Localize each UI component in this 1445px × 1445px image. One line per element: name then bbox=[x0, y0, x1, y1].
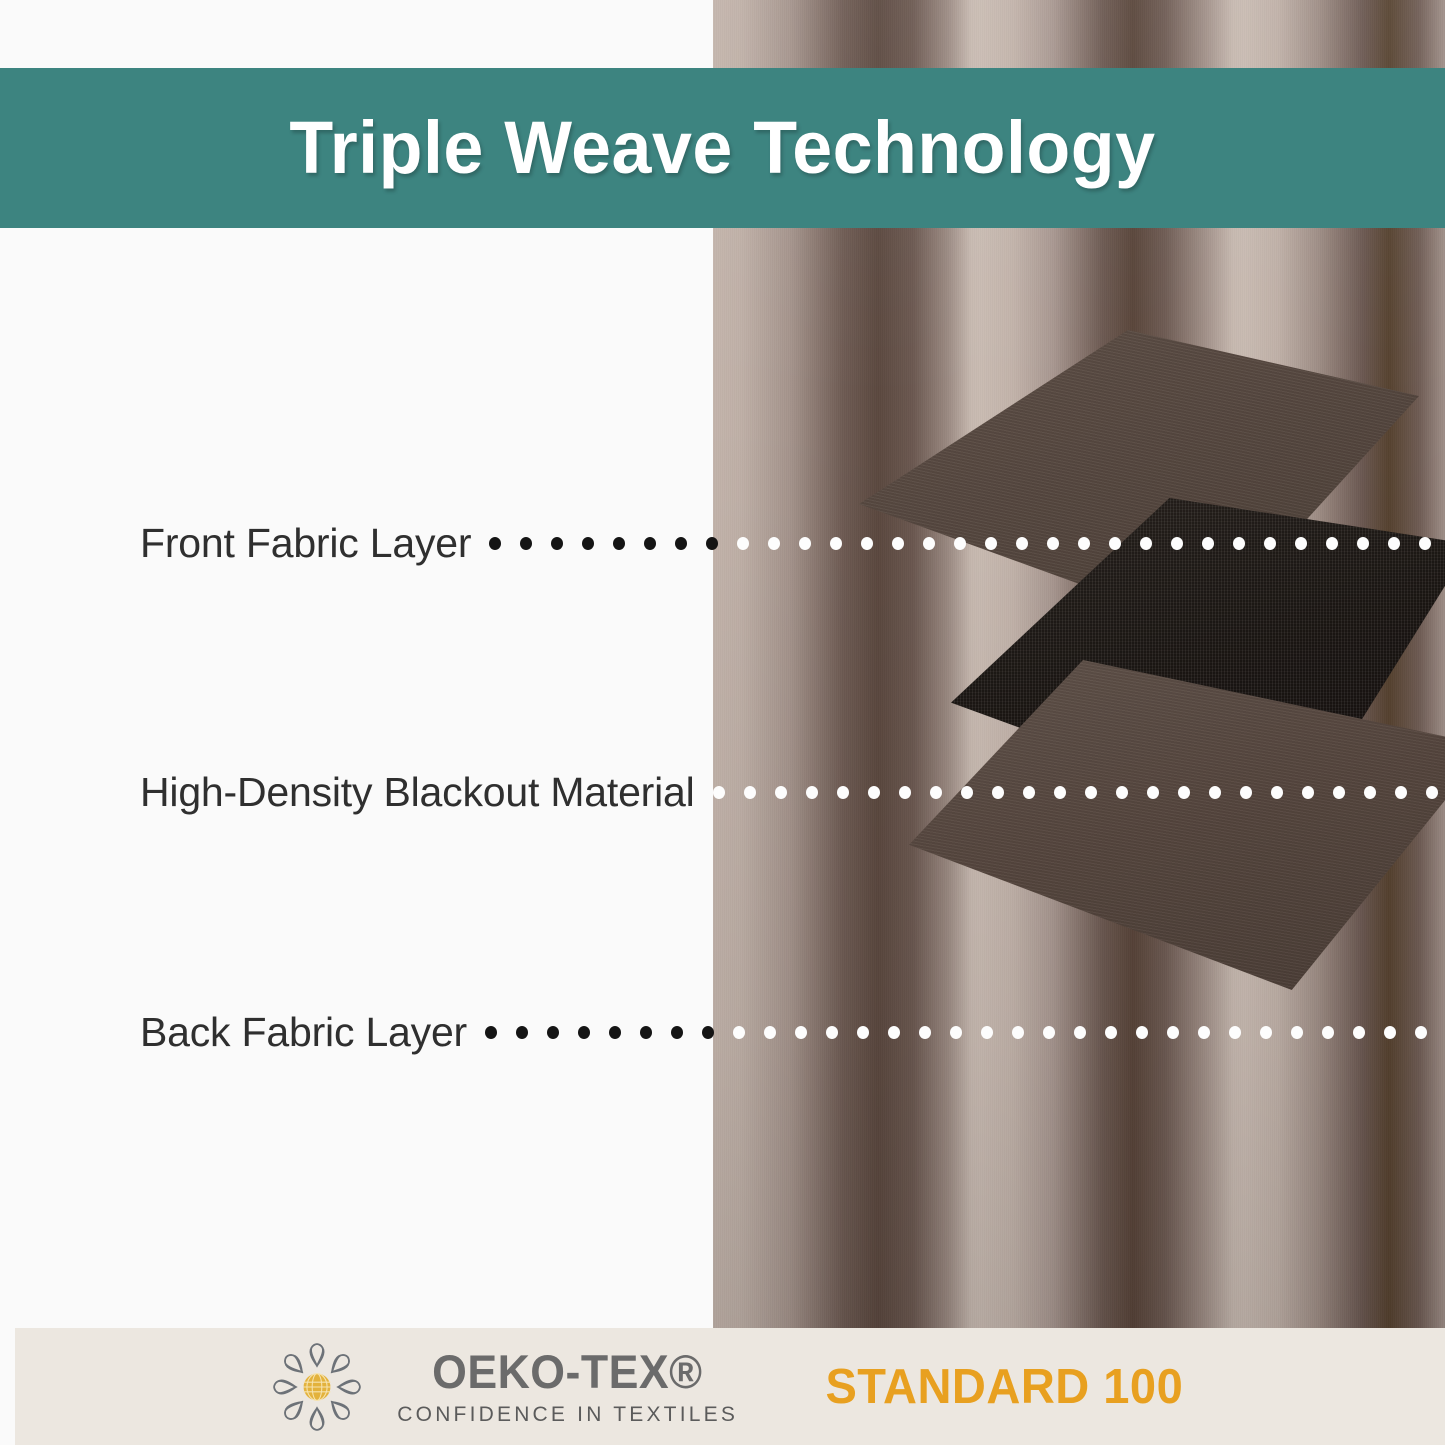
leader-dot bbox=[1322, 1026, 1334, 1039]
leader-dot bbox=[737, 537, 749, 550]
leader-dot bbox=[613, 537, 625, 550]
leader-dot bbox=[1074, 1026, 1086, 1039]
leader-dots bbox=[489, 521, 1445, 565]
leader-dot bbox=[644, 537, 656, 550]
leader-dot bbox=[1419, 537, 1431, 550]
leader-dot bbox=[578, 1026, 590, 1039]
leader-dot bbox=[1229, 1026, 1241, 1039]
leader-dot bbox=[1147, 786, 1159, 799]
callout-label: High-Density Blackout Material bbox=[140, 769, 695, 816]
dotted-leader-line bbox=[489, 521, 1445, 565]
leader-dot bbox=[899, 786, 911, 799]
leader-dot bbox=[1167, 1026, 1179, 1039]
leader-dot bbox=[1295, 537, 1307, 550]
leader-dot bbox=[582, 537, 594, 550]
leader-dot bbox=[795, 1026, 807, 1039]
leader-dot bbox=[775, 786, 787, 799]
leader-dot bbox=[1116, 786, 1128, 799]
leader-dot bbox=[516, 1026, 528, 1039]
leader-dot bbox=[485, 1026, 497, 1039]
leader-dot bbox=[1364, 786, 1376, 799]
leader-dot bbox=[799, 537, 811, 550]
callout-high-density-blackout-material: High-Density Blackout Material bbox=[0, 770, 1445, 814]
callout-label: Front Fabric Layer bbox=[140, 520, 471, 567]
leader-dot bbox=[923, 537, 935, 550]
leader-dot bbox=[1271, 786, 1283, 799]
leader-dot bbox=[1023, 786, 1035, 799]
callout-front-fabric-layer: Front Fabric Layer bbox=[0, 521, 1445, 565]
leader-dot bbox=[961, 786, 973, 799]
leader-dot bbox=[702, 1026, 714, 1039]
leader-dot bbox=[1291, 1026, 1303, 1039]
leader-dots bbox=[713, 770, 1445, 814]
leader-dot bbox=[675, 537, 687, 550]
leader-dot bbox=[551, 537, 563, 550]
leader-dot bbox=[1054, 786, 1066, 799]
oeko-tex-logo: OEKO-TEX® CONFIDENCE IN TEXTILES STANDAR… bbox=[269, 1339, 1190, 1435]
leader-dot bbox=[1333, 786, 1345, 799]
dotted-leader-line bbox=[713, 770, 1445, 814]
leader-dot bbox=[806, 786, 818, 799]
leader-dot bbox=[733, 1026, 745, 1039]
leader-dot bbox=[868, 786, 880, 799]
page-title: Triple Weave Technology bbox=[289, 111, 1155, 185]
leader-dot bbox=[609, 1026, 621, 1039]
globe-icon bbox=[304, 1373, 331, 1400]
leader-dot bbox=[919, 1026, 931, 1039]
oeko-tex-mandala-icon bbox=[269, 1339, 365, 1435]
leader-dot bbox=[520, 537, 532, 550]
leader-dot bbox=[1326, 537, 1338, 550]
leader-dot bbox=[1171, 537, 1183, 550]
leader-dot bbox=[547, 1026, 559, 1039]
leader-dot bbox=[1198, 1026, 1210, 1039]
leader-dot bbox=[1136, 1026, 1148, 1039]
leader-dot bbox=[888, 1026, 900, 1039]
leader-dot bbox=[1140, 537, 1152, 550]
callout-label: Back Fabric Layer bbox=[140, 1009, 467, 1056]
leader-dot bbox=[1078, 537, 1090, 550]
leader-dot bbox=[1264, 537, 1276, 550]
leader-dot bbox=[1353, 1026, 1365, 1039]
leader-dot bbox=[713, 786, 725, 799]
leader-dot bbox=[985, 537, 997, 550]
leader-dot bbox=[950, 1026, 962, 1039]
leader-dot bbox=[830, 537, 842, 550]
leader-dot bbox=[1357, 537, 1369, 550]
leader-dot bbox=[640, 1026, 652, 1039]
leader-dot bbox=[1105, 1026, 1117, 1039]
leader-dot bbox=[706, 537, 718, 550]
leader-dot bbox=[671, 1026, 683, 1039]
leader-dot bbox=[1302, 786, 1314, 799]
leader-dot bbox=[1260, 1026, 1272, 1039]
leader-dot bbox=[1109, 537, 1121, 550]
oeko-tex-tagline: CONFIDENCE IN TEXTILES bbox=[397, 1404, 738, 1425]
leader-dot bbox=[992, 786, 1004, 799]
leader-dot bbox=[1395, 786, 1407, 799]
leader-dot bbox=[1043, 1026, 1055, 1039]
leader-dot bbox=[1016, 537, 1028, 550]
title-banner: Triple Weave Technology bbox=[0, 68, 1445, 228]
leader-dot bbox=[954, 537, 966, 550]
leader-dots bbox=[485, 1010, 1445, 1054]
leader-dot bbox=[1202, 537, 1214, 550]
leader-dot bbox=[1240, 786, 1252, 799]
leader-dot bbox=[857, 1026, 869, 1039]
leader-dot bbox=[768, 537, 780, 550]
leader-dot bbox=[1384, 1026, 1396, 1039]
leader-dot bbox=[1233, 537, 1245, 550]
callout-back-fabric-layer: Back Fabric Layer bbox=[0, 1010, 1445, 1054]
leader-dot bbox=[1388, 537, 1400, 550]
leader-dot bbox=[892, 537, 904, 550]
leader-dot bbox=[1047, 537, 1059, 550]
leader-dot bbox=[1426, 786, 1438, 799]
standard-100-label: STANDARD 100 bbox=[825, 1359, 1183, 1415]
leader-dot bbox=[1209, 786, 1221, 799]
leader-dot bbox=[1085, 786, 1097, 799]
leader-dot bbox=[489, 537, 501, 550]
leader-dot bbox=[764, 1026, 776, 1039]
leader-dot bbox=[1012, 1026, 1024, 1039]
infographic-page: Triple Weave Technology Front Fabric Lay… bbox=[0, 0, 1445, 1445]
leader-dot bbox=[861, 537, 873, 550]
leader-dot bbox=[826, 1026, 838, 1039]
dotted-leader-line bbox=[485, 1010, 1445, 1054]
leader-dot bbox=[744, 786, 756, 799]
oeko-tex-wordmark: OEKO-TEX® CONFIDENCE IN TEXTILES bbox=[397, 1348, 738, 1425]
oeko-tex-brand: OEKO-TEX® bbox=[432, 1348, 702, 1395]
leader-dot bbox=[930, 786, 942, 799]
leader-dot bbox=[837, 786, 849, 799]
leader-dot bbox=[1415, 1026, 1427, 1039]
leader-dot bbox=[1178, 786, 1190, 799]
leader-dot bbox=[981, 1026, 993, 1039]
certification-footer: OEKO-TEX® CONFIDENCE IN TEXTILES STANDAR… bbox=[15, 1328, 1445, 1445]
